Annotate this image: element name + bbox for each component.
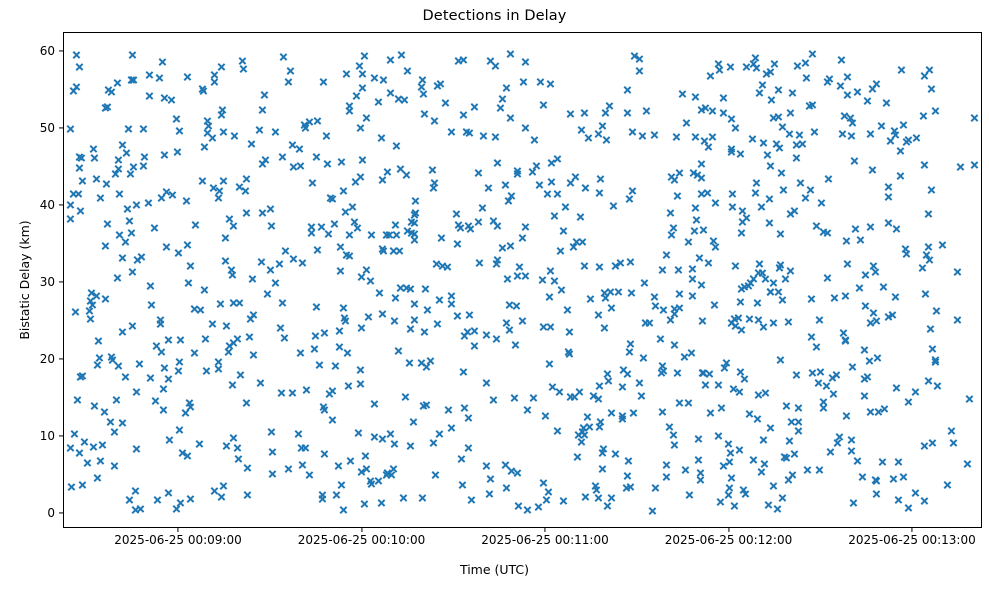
scatter-marker [596,175,605,184]
scatter-marker [183,241,192,250]
scatter-marker [301,386,310,395]
scatter-marker [766,423,775,432]
scatter-marker [668,223,677,232]
scatter-marker [428,165,437,174]
scatter-marker [773,287,782,296]
y-tick-label: 60 [7,45,55,57]
scatter-marker [669,340,678,349]
scatter-marker [133,255,142,264]
scatter-marker [622,109,631,118]
scatter-marker [216,299,225,308]
scatter-marker [110,428,119,437]
scatter-marker [507,192,516,201]
scatter-marker [926,185,935,194]
scatter-marker [453,240,462,249]
scatter-marker [546,323,555,332]
scatter-marker [217,493,226,502]
scatter-marker [106,418,115,427]
scatter-marker [278,299,287,308]
scatter-marker [546,80,555,89]
scatter-marker [356,468,365,477]
scatter-marker [221,442,230,451]
scatter-marker [651,302,660,311]
scatter-marker [175,335,184,344]
scatter-marker [355,173,364,182]
scatter-marker [474,169,483,178]
scatter-marker [624,456,633,465]
scatter-marker [335,242,344,251]
scatter-marker [641,106,650,115]
scatter-marker [767,96,776,105]
scatter-marker [411,208,420,217]
scatter-marker [735,446,744,455]
scatter-marker [175,127,184,136]
scatter-marker [66,214,75,223]
scatter-marker [337,480,346,489]
scatter-marker [346,456,355,465]
scatter-marker [464,414,473,423]
scatter-marker [90,154,99,163]
scatter-marker [881,99,890,108]
scatter-marker [727,114,736,123]
scatter-marker [638,131,647,140]
scatter-marker [305,118,314,127]
scatter-marker [703,188,712,197]
scatter-marker [513,272,522,281]
scatter-marker [749,455,758,464]
scatter-marker [391,294,400,303]
scatter-marker [378,246,387,255]
scatter-marker [802,74,811,83]
scatter-marker [407,229,416,238]
scatter-marker [555,388,564,397]
scatter-marker [94,337,103,346]
scatter-marker [943,481,952,490]
scatter-marker [795,130,804,139]
scatter-marker [164,335,173,344]
scatter-marker [485,490,494,499]
scatter-marker [625,482,634,491]
scatter-marker [699,226,708,235]
scatter-marker [239,64,248,73]
scatter-marker [839,328,848,337]
scatter-marker [714,59,723,68]
scatter-marker [258,106,267,115]
scatter-marker [520,271,529,280]
scatter-marker [691,203,700,212]
scatter-marker [776,355,785,364]
scatter-marker [78,371,87,380]
scatter-marker [266,204,275,213]
scatter-marker [337,158,346,167]
scatter-marker [830,294,839,303]
scatter-marker [758,139,767,148]
scatter-marker [318,495,327,504]
scatter-marker [462,327,471,336]
scatter-marker [203,117,212,126]
scatter-marker [388,246,397,255]
scatter-marker [580,108,589,117]
scatter-marker [808,368,817,377]
scatter-marker [454,220,463,229]
scatter-marker [871,79,880,88]
x-tick-label: 2025-06-25 00:10:00 [298,534,425,546]
scatter-marker [739,486,748,495]
scatter-marker [356,365,365,374]
scatter-marker [352,92,361,101]
scatter-marker [700,136,709,145]
scatter-marker [565,349,574,358]
scatter-marker [595,382,604,391]
scatter-marker [502,483,511,492]
scatter-marker [95,354,104,363]
scatter-marker [532,162,541,171]
scatter-marker [175,425,184,434]
scatter-marker [580,431,589,440]
scatter-marker [66,200,75,209]
scatter-marker [249,351,258,360]
y-tick-label: 0 [7,507,55,519]
scatter-marker [787,418,796,427]
scatter-marker [871,490,880,499]
scatter-marker [163,488,172,497]
scatter-marker [341,207,350,216]
scatter-marker [400,96,409,105]
scatter-marker [129,76,138,85]
scatter-marker [731,123,740,132]
scatter-marker [202,367,211,376]
scatter-marker [489,396,498,405]
scatter-marker [482,461,491,470]
scatter-marker [512,170,521,179]
scatter-marker [392,142,401,151]
scatter-marker [73,395,82,404]
scatter-marker [546,267,555,276]
scatter-marker [704,370,713,379]
scatter-marker [72,83,81,92]
scatter-marker [521,58,530,67]
scatter-marker [491,259,500,268]
scatter-marker [462,127,471,136]
scatter-marker [765,68,774,77]
scatter-marker [267,221,276,230]
scatter-marker [301,443,310,452]
scatter-marker [778,295,787,304]
scatter-marker [328,195,337,204]
scatter-marker [860,302,869,311]
scatter-marker [465,311,474,320]
scatter-marker [545,359,554,368]
scatter-marker [235,298,244,307]
scatter-marker [173,366,182,375]
scatter-marker [591,482,600,491]
scatter-marker [675,290,684,299]
scatter-marker [350,218,359,227]
scatter-marker [160,151,169,160]
scatter-marker [521,222,530,231]
scatter-marker [594,423,603,432]
scatter-marker [88,443,97,452]
scatter-marker [156,193,165,202]
scatter-marker [616,259,625,268]
scatter-marker [635,54,644,63]
scatter-marker [669,430,678,439]
scatter-marker [661,250,670,259]
scatter-marker [190,305,199,314]
scatter-marker [128,162,137,171]
scatter-marker [659,306,668,315]
scatter-marker [697,174,706,183]
scatter-marker [899,473,908,482]
scatter-marker [378,309,387,318]
scatter-marker [248,275,257,284]
scatter-marker [711,242,720,251]
scatter-marker [385,88,394,97]
scatter-marker [740,283,749,292]
scatter-marker [828,373,837,382]
scatter-marker [791,141,800,150]
scatter-marker [727,473,736,482]
scatter-marker [284,464,293,473]
scatter-marker [924,210,933,219]
scatter-marker [674,265,683,274]
scatter-marker [483,184,492,193]
scatter-marker [735,388,744,397]
scatter-marker [209,183,218,192]
scatter-marker [464,222,473,231]
scatter-marker [190,349,199,358]
scatter-marker [132,388,141,397]
scatter-marker [432,259,441,268]
scatter-marker [807,333,816,342]
scatter-marker [410,315,419,324]
scatter-marker [717,404,726,413]
scatter-marker [684,398,693,407]
scatter-marker [708,107,717,116]
scatter-marker [550,211,559,220]
scatter-marker [757,202,766,211]
scatter-marker [270,278,279,287]
scatter-marker [118,419,127,428]
scatter-marker [925,255,934,264]
scatter-marker [842,260,851,269]
scatter-marker [479,131,488,140]
scatter-marker [136,504,145,513]
scatter-marker [696,469,705,478]
scatter-marker [360,500,369,509]
scatter-marker [460,331,469,340]
scatter-marker [120,237,129,246]
scatter-marker [267,428,276,437]
scatter-marker [515,262,524,271]
scatter-marker [695,254,704,263]
scatter-marker [225,215,234,224]
scatter-marker [385,230,394,239]
scatter-marker [666,316,675,325]
scatter-marker [288,388,297,397]
scatter-marker [164,436,173,445]
scatter-marker [159,384,168,393]
scatter-marker [768,114,777,123]
scatter-marker [879,404,888,413]
scatter-marker [843,72,852,81]
scatter-marker [386,430,395,439]
scatter-marker [785,130,794,139]
scatter-marker [670,310,679,319]
scatter-marker [680,352,689,361]
scatter-marker [805,101,814,110]
scatter-marker [370,400,379,409]
scatter-marker [224,348,233,357]
scatter-marker [382,471,391,480]
scatter-marker [625,347,634,356]
scatter-marker [399,493,408,502]
scatter-marker [235,182,244,191]
scatter-marker [358,70,367,79]
scatter-marker [378,175,387,184]
scatter-marker [790,207,799,216]
scatter-marker [970,114,979,123]
scatter-marker [409,417,418,426]
scatter-marker [754,390,763,399]
scatter-marker [599,445,608,454]
scatter-marker [560,203,569,212]
scatter-marker [571,172,580,181]
scatter-marker [313,246,322,255]
scatter-marker [826,448,835,457]
scatter-marker [403,226,412,235]
scatter-marker [523,506,532,515]
scatter-marker [696,190,705,199]
scatter-marker [723,491,732,500]
scatter-marker [390,317,399,326]
scatter-marker [362,465,371,474]
scatter-marker [348,202,357,211]
scatter-marker [763,150,772,159]
scatter-marker [609,202,618,211]
scatter-marker [357,272,366,281]
scatter-marker [649,131,658,140]
scatter-marker [419,402,428,411]
scatter-marker [298,460,307,469]
scatter-marker [598,465,607,474]
scatter-marker [623,370,632,379]
scatter-marker [86,289,95,298]
scatter-marker [465,128,474,137]
scatter-marker [122,149,131,158]
scatter-marker [117,253,126,262]
scatter-marker [317,223,326,232]
scatter-marker [839,112,848,121]
scatter-marker [933,382,942,391]
scatter-marker [576,212,585,221]
scatter-marker [823,77,832,86]
scatter-marker [357,324,366,333]
scatter-marker [694,455,703,464]
scatter-marker [335,327,344,336]
scatter-marker [715,497,724,506]
scatter-marker [366,276,375,285]
scatter-marker [919,112,928,121]
scatter-marker [752,179,761,188]
scatter-marker [111,169,120,178]
scatter-marker [491,132,500,141]
scatter-marker [528,393,537,402]
scatter-marker [389,439,398,448]
scatter-marker [576,437,585,446]
scatter-marker [569,243,578,252]
scatter-marker [548,383,557,392]
scatter-marker [392,230,401,239]
scatter-marker [753,316,762,325]
scatter-marker [786,266,795,275]
scatter-marker [601,294,610,303]
scatter-marker [953,315,962,324]
scatter-marker [879,282,888,291]
scatter-marker [389,465,398,474]
scatter-marker [387,470,396,479]
scatter-marker [678,89,687,98]
scatter-marker [360,452,369,461]
scatter-marker [776,261,785,270]
scatter-marker [112,273,121,282]
scatter-marker [340,317,349,326]
scatter-marker [697,159,706,168]
scatter-marker [214,193,223,202]
scatter-marker [706,408,715,417]
scatter-marker [729,384,738,393]
scatter-marker [603,369,612,378]
scatter-marker [759,459,768,468]
scatter-marker [855,235,864,244]
scatter-marker [305,470,314,479]
scatter-marker [658,408,667,417]
scatter-marker [625,195,634,204]
scatter-marker [362,114,371,123]
scatter-marker [710,301,719,310]
scatter-marker [761,70,770,79]
scatter-marker [441,98,450,107]
scatter-marker [721,359,730,368]
scatter-marker [300,120,309,129]
scatter-marker [256,379,265,388]
scatter-marker [145,70,154,79]
scatter-marker [787,88,796,97]
scatter-marker [382,230,391,239]
scatter-marker [546,159,555,168]
scatter-marker [356,124,365,133]
scatter-marker [696,475,705,484]
scatter-marker [71,308,80,317]
scatter-marker [470,341,479,350]
scatter-marker [437,233,446,242]
scatter-marker [581,493,590,502]
scatter-marker [920,290,929,299]
scatter-marker [790,450,799,459]
scatter-marker [139,125,148,134]
scatter-marker [538,276,547,285]
scatter-marker [583,413,592,422]
scatter-marker [93,473,102,482]
scatter-marker [78,480,87,489]
scatter-marker [539,478,548,487]
x-tick-label: 2025-06-25 00:12:00 [665,534,792,546]
scatter-marker [124,495,133,504]
scatter-marker [919,160,928,169]
scatter-marker [76,373,85,382]
scatter-marker [401,392,410,401]
scatter-marker [807,295,816,304]
